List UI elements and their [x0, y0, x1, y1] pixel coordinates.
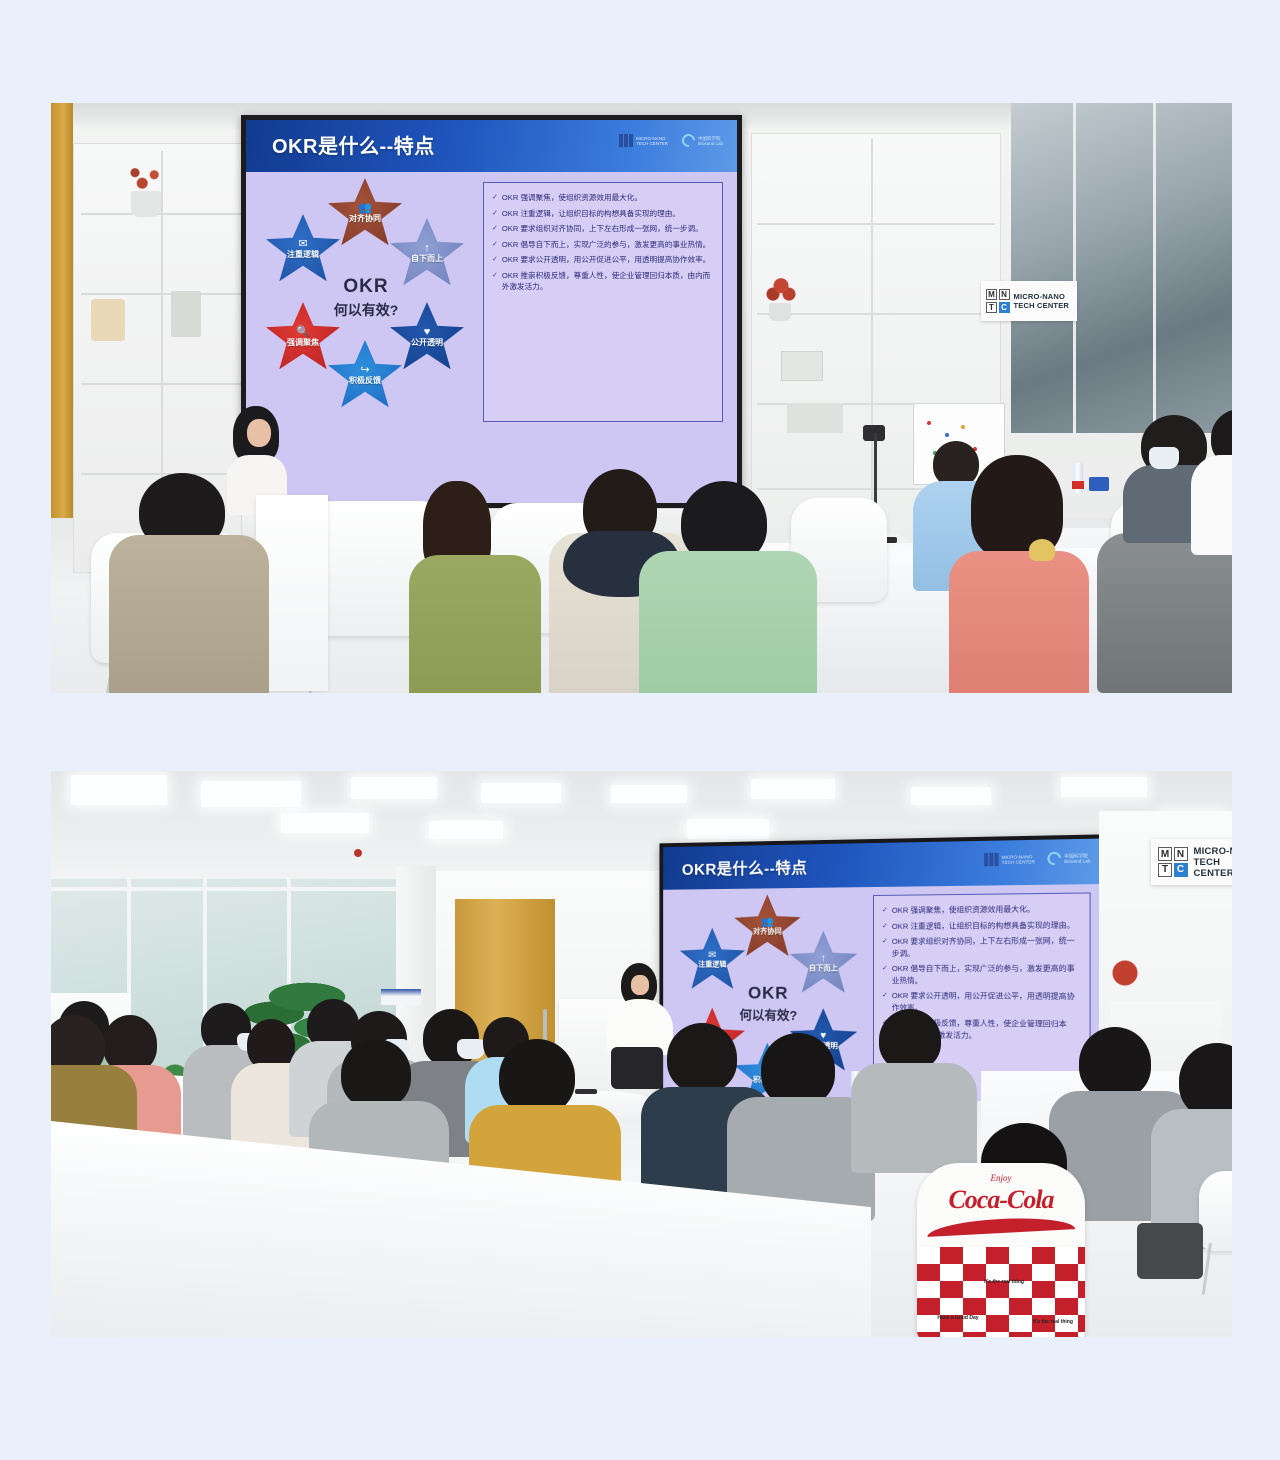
check-icon: ✓: [882, 905, 888, 917]
jacket-brand-script: Coca-Cola: [948, 1185, 1053, 1215]
center-question-text: 何以有效?: [739, 1006, 797, 1025]
seated-person-legs: [1137, 1223, 1203, 1279]
jacket-wave-stripe: [927, 1215, 1076, 1237]
sign-line-2: TECH CENTER: [1014, 301, 1070, 310]
logo-letter-m: M: [986, 289, 997, 300]
shelf-book: [171, 291, 201, 337]
sign-line-1: MICRO-NANO: [1194, 846, 1233, 857]
okr-star-diagram: 👥 对齐协同 ✉ 注重逻辑 ↑ 自下而上 🔍 强调聚焦: [264, 180, 469, 410]
sign-text: MICRO-NANO TECH CENTER: [1014, 292, 1070, 310]
bullet-item: ✓OKR 要求组织对齐协同，上下左右形成一张网，统一步调。: [882, 935, 1081, 959]
logo-letter-c: C: [1174, 863, 1188, 877]
center-okr-text: OKR: [343, 276, 388, 298]
logo-letter-m: M: [1158, 847, 1172, 861]
star-label: 注重逻辑: [698, 960, 726, 968]
star-label: 对齐协同: [349, 214, 381, 223]
people-icon: 👥: [761, 917, 773, 926]
face-mask: [1149, 447, 1179, 469]
bullet-item: ✓OKR 强调聚焦，使组织资源效用最大化。: [882, 903, 1081, 917]
check-icon: ✓: [882, 990, 888, 1013]
sign-line-2: TECH CENTER: [1194, 857, 1233, 879]
smoke-detector: [354, 849, 362, 857]
ceiling-light: [611, 785, 687, 803]
article-page: OKR是什么--特点 MICRO-NANO TECH CENTER: [0, 0, 1280, 1460]
star-diagram-center: OKR 何以有效?: [727, 973, 809, 1036]
bullet-text: OKR 倡导自下而上，实现广泛的参与，激发更高的事业热情。: [502, 239, 710, 251]
blue-box: [1089, 477, 1109, 491]
check-icon: ✓: [492, 192, 498, 204]
presenter-face: [247, 419, 271, 447]
bullet-item: ✓OKR 要求公开透明，用公开促进公平，用透明提高协作效率。: [492, 254, 714, 266]
picture-frame: [781, 351, 823, 381]
bullet-text: OKR 要求组织对齐协同，上下左右形成一张网，统一步调。: [502, 223, 703, 235]
logo2-line-2: Biosand Lab: [698, 141, 723, 146]
check-icon: ✓: [882, 963, 888, 986]
ceiling-light: [481, 783, 561, 803]
bullet-item: ✓OKR 倡导自下而上，实现广泛的参与，激发更高的事业热情。: [882, 963, 1081, 987]
up-arrow-icon: ↑: [821, 954, 826, 963]
wall-sign-micro-nano-tech-center: M N T C MICRO-NANO TECH CENTER: [1151, 839, 1232, 885]
star-align-collaborate: 👥 对齐协同: [328, 178, 402, 248]
slide-logo-group: MICRO-NANO TECH CENTER 中国科学院 Biosand Lab: [619, 134, 723, 147]
logo-letter-t: T: [1158, 863, 1172, 877]
envelope-icon: ✉: [708, 950, 716, 959]
mntc-bars-icon: [984, 853, 998, 866]
slide-surface: OKR是什么--特点 MICRO-NANO TECH CENTER: [246, 120, 737, 503]
sign-line-1: MICRO-NANO: [1014, 292, 1070, 301]
check-icon: ✓: [492, 239, 498, 251]
bullet-item: ✓OKR 注重逻辑，让组织目标的构想具备实现的理由。: [492, 208, 714, 220]
star-label: 自下而上: [411, 254, 443, 263]
envelope-icon: ✉: [298, 239, 307, 249]
swirl-icon: [1045, 849, 1064, 868]
logo-letter-t: T: [986, 302, 997, 313]
bullet-item: ✓OKR 推崇积极反馈，尊重人性，使企业管理回归本质，由内而外激发活力。: [492, 270, 714, 293]
check-icon: ✓: [882, 936, 888, 959]
wall-sign-micro-nano-tech-center: M N T C MICRO-NANO TECH CENTER: [981, 281, 1077, 321]
bullet-text: OKR 推崇积极反馈，尊重人性，使企业管理回归本质，由内而外激发活力。: [502, 270, 714, 293]
check-icon: ✓: [492, 223, 498, 235]
check-icon: ✓: [492, 254, 498, 266]
star-label: 公开透明: [411, 338, 443, 347]
logo-line-2: TECH CENTER: [1002, 859, 1035, 865]
people-icon: 👥: [358, 203, 372, 213]
star-label: 对齐协同: [753, 927, 782, 935]
remote-control: [575, 1089, 597, 1094]
red-flower-right: [1103, 951, 1147, 995]
bullet-item: ✓OKR 要求组织对齐协同，上下左右形成一张网，统一步调。: [492, 223, 714, 235]
chair: [1199, 1171, 1232, 1251]
mntc-bars-icon: [619, 134, 633, 147]
shelf-box: [91, 299, 125, 341]
logo-line-2: TECH CENTER: [636, 141, 668, 146]
plant-pot-right: [769, 303, 791, 321]
photo-okr-training-wide-view: OKR是什么--特点 MICRO-NANO TECH CENTER: [51, 771, 1232, 1337]
center-question-text: 何以有效?: [334, 300, 399, 320]
presentation-display: OKR是什么--特点 MICRO-NANO TECH CENTER: [241, 115, 742, 508]
check-icon: ✓: [492, 270, 498, 293]
star-label: 自下而上: [809, 964, 838, 972]
bullet-text: OKR 要求组织对齐协同，上下左右形成一张网，统一步调。: [892, 935, 1081, 959]
micro-nano-tech-center-logo: MICRO-NANO TECH CENTER: [984, 852, 1035, 866]
bottle-label: [1072, 481, 1084, 489]
jacket-tag-real-thing-2: It's the real thing: [1031, 1319, 1075, 1325]
bullet-item: ✓OKR 注重逻辑，让组织目标的构想具备实现的理由。: [882, 919, 1081, 932]
ceiling-light: [1061, 777, 1147, 797]
logo2-line-2: Biosand Lab: [1064, 858, 1090, 864]
feedback-icon: ↪: [360, 365, 369, 375]
ceiling-light: [429, 821, 503, 839]
ceiling-light: [351, 777, 437, 799]
jacket-body: Enjoy Coca-Cola Have a Good Day It's the…: [917, 1163, 1085, 1337]
logo-letter-n: N: [1174, 847, 1188, 861]
bullet-text: OKR 倡导自下而上，实现广泛的参与，激发更高的事业热情。: [892, 963, 1081, 987]
hair-clip: [1029, 539, 1055, 561]
blue-wall-sign: [381, 989, 421, 1005]
ceiling-light: [201, 781, 301, 807]
check-icon: ✓: [492, 208, 498, 220]
jacket-enjoy-text: Enjoy: [991, 1173, 1012, 1183]
slide-title: OKR是什么--特点: [682, 854, 807, 880]
face-mask: [457, 1039, 485, 1059]
jacket-tag-real-thing-1: It's the real thing: [983, 1279, 1025, 1285]
ceiling-light: [71, 775, 167, 805]
shelf-items: [787, 403, 843, 433]
ceiling-light: [751, 779, 835, 799]
bullet-text: OKR 注重逻辑，让组织目标的构想具备实现的理由。: [892, 919, 1075, 932]
bullet-text: OKR 强调聚焦，使组织资源效用最大化。: [502, 192, 642, 204]
star-label: 注重逻辑: [287, 250, 319, 259]
plant-pot-left: [131, 191, 161, 217]
swirl-icon: [679, 131, 697, 149]
logo-letter-c: C: [999, 302, 1010, 313]
ceiling-light: [687, 819, 769, 839]
star-diagram-center: OKR 何以有效?: [320, 264, 412, 332]
mntc-logo-icon: M N T C: [986, 289, 1010, 313]
star-label: 强调聚焦: [287, 338, 319, 347]
logo-letter-n: N: [999, 289, 1010, 300]
bullet-item: ✓OKR 倡导自下而上，实现广泛的参与，激发更高的事业热情。: [492, 239, 714, 251]
up-arrow-icon: ↑: [424, 243, 430, 253]
micro-nano-tech-center-logo: MICRO-NANO TECH CENTER: [619, 134, 668, 147]
biosand-lab-logo: 中国科学院 Biosand Lab: [1047, 851, 1090, 865]
heart-icon: ♥: [424, 327, 431, 337]
magnifier-icon: 🔍: [296, 327, 310, 337]
slide-header-band: OKR是什么--特点 MICRO-NANO TECH CENTER: [663, 839, 1101, 890]
glass-partition: [1011, 103, 1232, 433]
jacket-tag-have-a-good-day: Have a Good Day: [933, 1315, 983, 1321]
bullet-text: OKR 注重逻辑，让组织目标的构想具备实现的理由。: [502, 208, 680, 220]
star-align-collaborate: 👥 对齐协同: [734, 894, 800, 959]
bullet-item: ✓OKR 强调聚焦，使组织资源效用最大化。: [492, 192, 714, 204]
bullet-text: OKR 要求公开透明，用公开促进公平，用透明提高协作效率。: [502, 254, 710, 266]
slide-bullet-panel: ✓OKR 强调聚焦，使组织资源效用最大化。 ✓OKR 注重逻辑，让组织目标的构想…: [483, 182, 723, 422]
heart-icon: ♥: [820, 1031, 826, 1040]
star-positive-feedback: ↪ 积极反馈: [328, 340, 402, 410]
star-label: 积极反馈: [349, 376, 381, 385]
sign-text: MICRO-NANO TECH CENTER: [1194, 846, 1233, 879]
logo-line-1: MICRO-NANO: [636, 136, 668, 141]
center-okr-text: OKR: [748, 984, 789, 1004]
biosand-lab-logo: 中国科学院 Biosand Lab: [682, 134, 723, 147]
ceiling-light: [281, 813, 369, 833]
check-icon: ✓: [882, 920, 888, 932]
mntc-logo-icon: M N T C: [1158, 847, 1188, 877]
ceiling-light: [911, 787, 991, 805]
slide-header-band: OKR是什么--特点 MICRO-NANO TECH CENTER: [246, 120, 737, 172]
logo2-line-1: 中国科学院: [698, 136, 723, 141]
slide-title: OKR是什么--特点: [272, 130, 435, 159]
bullet-text: OKR 强调聚焦，使组织资源效用最大化。: [892, 903, 1035, 916]
photo-okr-training-front-view: OKR是什么--特点 MICRO-NANO TECH CENTER: [51, 103, 1232, 693]
